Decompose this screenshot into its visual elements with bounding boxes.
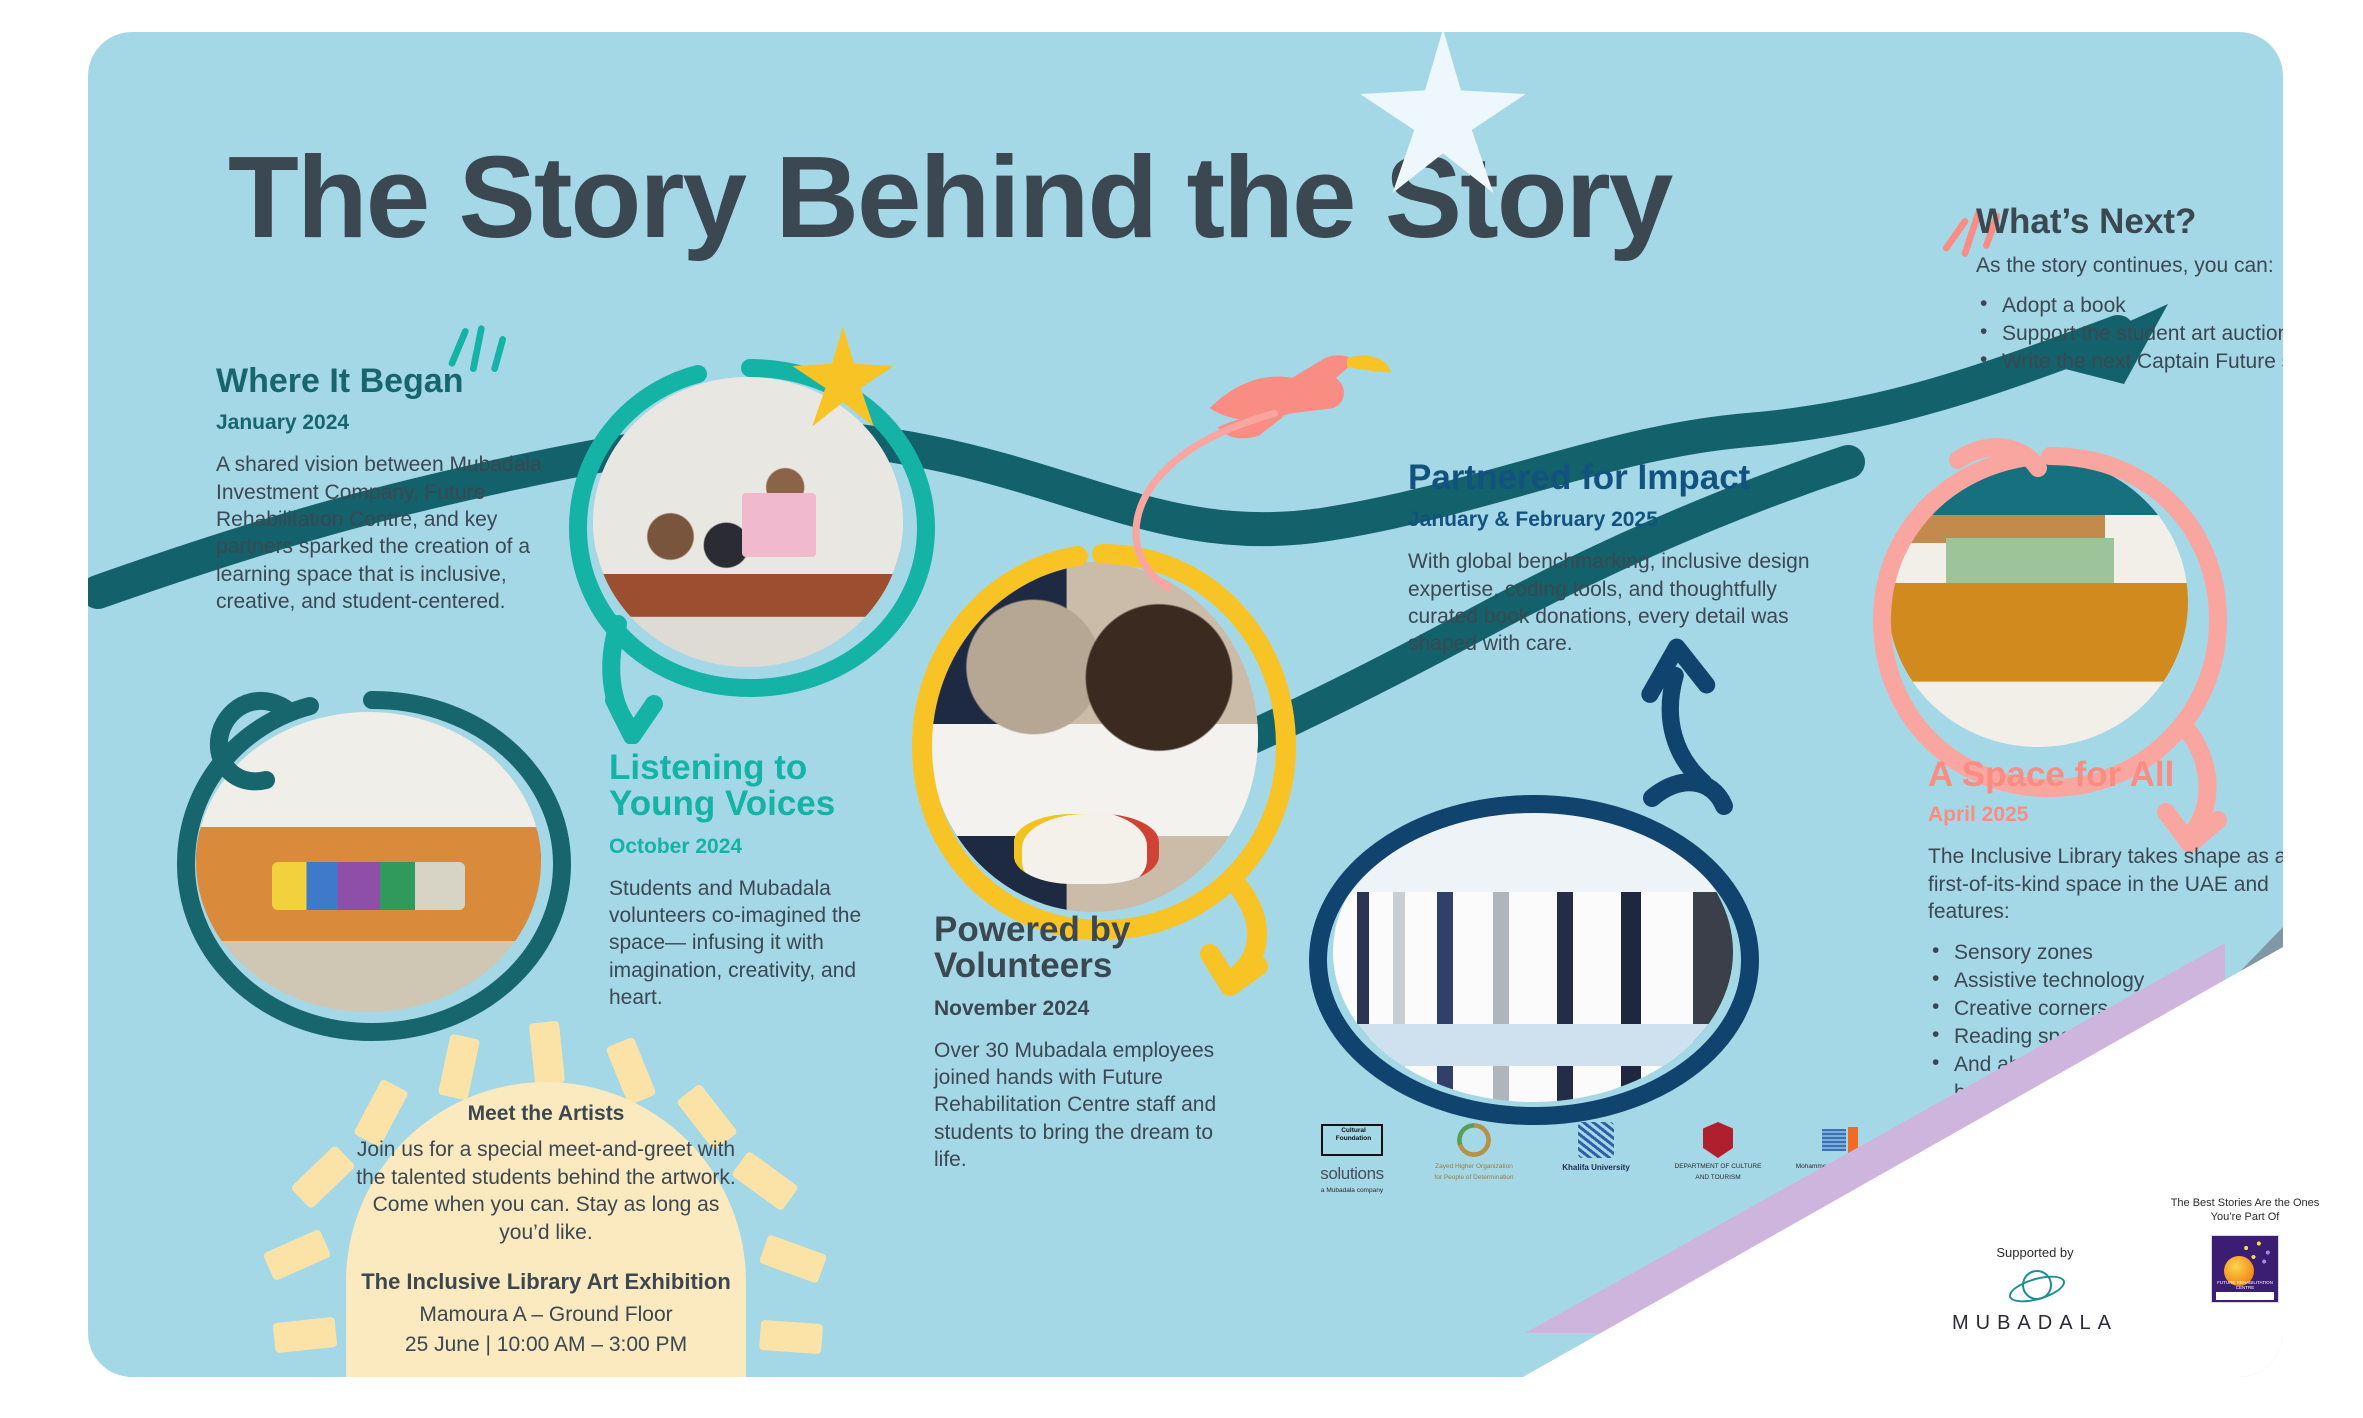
date-partnered: January & February 2025 [1408, 508, 1828, 532]
sun-ray [759, 1320, 823, 1354]
heading-partnered: Partnered for Impact [1408, 460, 1828, 496]
heading-powered: Powered by Volunteers [934, 912, 1234, 985]
photo-group-ceremony [1333, 802, 1733, 1102]
list-item: Sensory zones [1928, 939, 2283, 967]
logo-zayed-higher-organization: Zayed Higher Organization for People of … [1428, 1120, 1520, 1182]
dct-mark [1672, 1120, 1764, 1160]
body-listening: Students and Mubadala volunteers co-imag… [609, 875, 909, 1011]
photo-play-room [196, 712, 541, 1012]
sun-ray [290, 1145, 355, 1210]
list-item: Support the student art auction [1976, 320, 2283, 348]
event-description: Join us for a special meet-and-greet wit… [350, 1136, 742, 1247]
list-item: Write the next Captain Future story [1976, 348, 2283, 376]
mubadala-wordmark: MUBADALA [1930, 1312, 2140, 1335]
event-datetime: 25 June | 10:00 AM – 3:00 PM [350, 1331, 742, 1359]
logo-caption: Khalifa University [1550, 1163, 1642, 1173]
list-item: Adopt a book [1976, 292, 2283, 320]
sun-ray [529, 1021, 565, 1086]
logo-caption: DEPARTMENT OF CULTURE [1672, 1163, 1764, 1171]
frc-logo-label: FUTURE REHABILITATION CENTRE [2212, 1280, 2278, 1290]
event-heading: Meet the Artists [350, 1102, 742, 1126]
section-whats-next: What’s Next? As the story continues, you… [1976, 204, 2283, 376]
section-partnered-for-impact: Partnered for Impact January & February … [1408, 460, 1828, 658]
body-partnered: With global benchmarking, inclusive desi… [1408, 548, 1828, 657]
heading-where-it-began: Where It Began [216, 364, 546, 399]
sun-ray [263, 1229, 332, 1282]
event-exhibition: The Inclusive Library Art Exhibition [350, 1269, 742, 1295]
logo-caption: Zayed Higher Organization [1428, 1163, 1520, 1171]
infographic-canvas: The Story Behind the Story [0, 0, 2363, 1418]
subtitle-whats-next: As the story continues, you can: [1976, 254, 2283, 278]
logo-solutions-sub: a Mubadala company [1306, 1187, 1398, 1195]
logo-caption-2: AND TOURISM [1672, 1174, 1764, 1182]
meet-the-artists-card: Meet the Artists Join us for a special m… [266, 990, 826, 1377]
section-where-it-began: Where It Began January 2024 A shared vis… [216, 364, 546, 615]
logo-department-culture-tourism: DEPARTMENT OF CULTURE AND TOURISM [1672, 1120, 1764, 1182]
date-powered: November 2024 [934, 997, 1234, 1021]
khalifa-mark [1550, 1120, 1642, 1160]
logo-caption: Cultural Foundation [1326, 1127, 1381, 1143]
sun-ray [273, 1317, 338, 1353]
heading-whats-next: What’s Next? [1976, 204, 2283, 240]
heading-space-for-all: A Space for All [1928, 757, 2283, 793]
logo-cultural-foundation: Cultural Foundation solutions a Mubadala… [1306, 1120, 1398, 1195]
body-space-for-all: The Inclusive Library takes shape as a f… [1928, 843, 2283, 925]
logo-khalifa-university: Khalifa University [1550, 1120, 1642, 1173]
sun-ray [759, 1234, 828, 1283]
logo-solutions-wordmark: solutions [1306, 1163, 1398, 1184]
zho-mark [1428, 1120, 1520, 1160]
section-listening: Listening to Young Voices October 2024 S… [609, 750, 909, 1011]
mubadala-globe-icon [2008, 1266, 2062, 1308]
list-whats-next: Adopt a book Support the student art auc… [1976, 292, 2283, 375]
photo-inclusive-library [1888, 457, 2188, 747]
frc-lockup: The Best Stories Are the Ones You’re Par… [2160, 1196, 2330, 1303]
sun-ray [438, 1034, 480, 1101]
photo-volunteer-activity [928, 562, 1258, 912]
body-where-it-began: A shared vision between Mubadala Investm… [216, 451, 546, 615]
mubadala-lockup: Supported by MUBADALA [1930, 1245, 2140, 1335]
supported-by-label: Supported by [1930, 1245, 2140, 1260]
date-where-it-began: January 2024 [216, 411, 546, 435]
heading-listening: Listening to Young Voices [609, 750, 909, 823]
tagline: The Best Stories Are the Ones You’re Par… [2160, 1196, 2330, 1225]
body-powered: Over 30 Mubadala employees joined hands … [934, 1037, 1234, 1173]
event-text: Meet the Artists Join us for a special m… [350, 1102, 742, 1359]
date-listening: October 2024 [609, 835, 909, 859]
logo-caption-2: for People of Determination [1428, 1174, 1520, 1182]
photo-student-meeting [593, 377, 903, 667]
frc-logo-icon: FUTURE REHABILITATION CENTRE [2211, 1235, 2279, 1303]
event-venue: Mamoura A – Ground Floor [350, 1301, 742, 1329]
board-background: The Story Behind the Story [88, 32, 2283, 1377]
date-space-for-all: April 2025 [1928, 803, 2283, 827]
cultural-foundation-mark: Cultural Foundation [1306, 1120, 1398, 1160]
section-powered-by-volunteers: Powered by Volunteers November 2024 Over… [934, 912, 1234, 1173]
